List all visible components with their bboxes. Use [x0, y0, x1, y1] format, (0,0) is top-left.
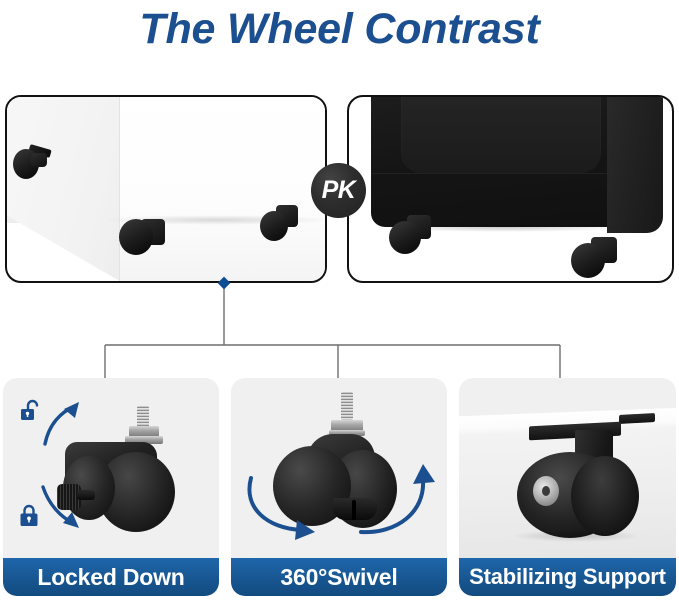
black-cabinet-caster-right [571, 237, 623, 279]
curved-arrow-left-icon [243, 460, 343, 544]
caster-hubcap [533, 476, 559, 506]
connector-bracket [0, 270, 679, 385]
black-cabinet-seam [371, 173, 607, 174]
black-cabinet-caster-left [389, 215, 437, 255]
caster-shadow [511, 530, 641, 542]
white-cabinet-side-panel [5, 95, 123, 283]
feature-label-locked-down: Locked Down [3, 558, 219, 596]
locked-down-artwork [3, 378, 219, 558]
caster-with-brake-illustration [55, 406, 179, 536]
black-cabinet-side-panel [607, 95, 663, 233]
page-title: The Wheel Contrast [0, 2, 679, 56]
feature-panel-locked-down: Locked Down [3, 378, 219, 596]
feature-label-swivel: 360°Swivel [231, 558, 447, 596]
stabilizing-support-artwork [459, 378, 676, 558]
pk-badge: PK [311, 163, 366, 218]
comparison-panel-black-cabinet [347, 95, 674, 283]
curved-arrow-right-icon [339, 446, 439, 542]
swivel-artwork [231, 378, 447, 558]
white-cabinet-caster-front-right [260, 205, 304, 243]
feature-label-stabilizing-support: Stabilizing Support [459, 558, 676, 596]
feature-panel-stabilizing-support: Stabilizing Support [459, 378, 676, 596]
white-cabinet-caster-front-left [119, 215, 171, 257]
black-cabinet-drawer [401, 95, 601, 173]
caster-mount-plate-rear [619, 413, 655, 424]
caster-wheel-front [571, 456, 639, 536]
pk-badge-label: PK [322, 178, 356, 203]
feature-panel-swivel: 360°Swivel [231, 378, 447, 596]
white-cabinet-caster-back-left [13, 145, 55, 179]
comparison-panel-white-cabinet [5, 95, 327, 283]
